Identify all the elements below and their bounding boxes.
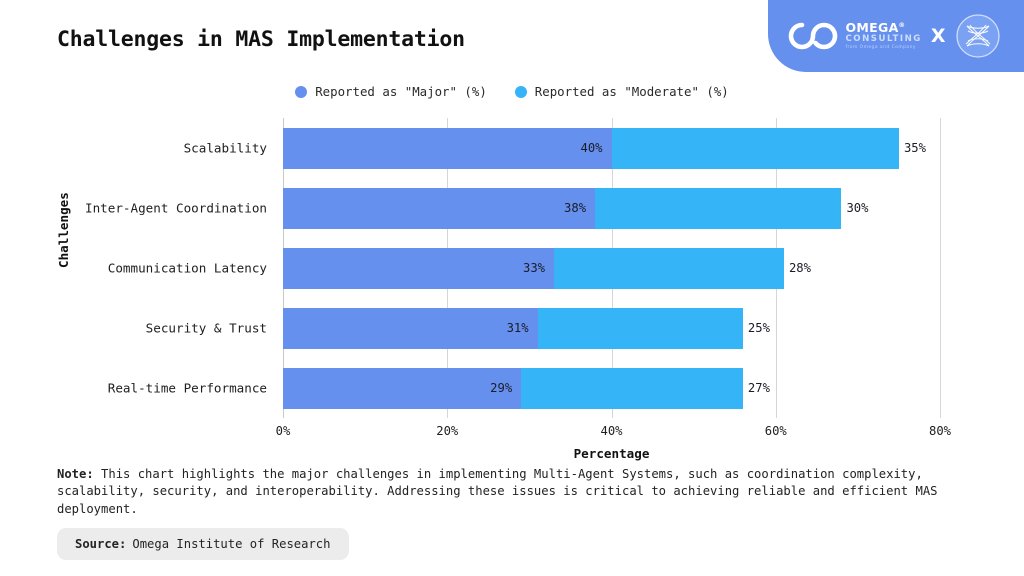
x-axis-title: Percentage <box>283 446 940 461</box>
bar-segment-moderate[interactable]: 35% <box>612 128 899 169</box>
bar-segment-major[interactable]: 38% <box>283 188 595 229</box>
x-axis-ticks: 0%20%40%60%80% <box>283 424 940 442</box>
brand-logo-badge: OMEGA® CONSULTING from Omega and Company… <box>768 0 1024 72</box>
bar-value-label: 30% <box>841 201 868 215</box>
y-axis-category-label: Scalability <box>184 141 267 156</box>
bar-value-label: 29% <box>490 381 521 395</box>
legend-swatch-major <box>295 86 307 98</box>
registered-mark-icon: ® <box>899 21 906 29</box>
note-label: Note: <box>57 467 94 481</box>
source-badge: Source:Omega Institute of Research <box>57 528 349 560</box>
bar-row[interactable]: Inter-Agent Coordination38%30% <box>283 188 841 229</box>
bar-value-label: 38% <box>564 201 595 215</box>
bar-value-label: 25% <box>743 321 770 335</box>
mesh-sphere-emblem-icon <box>955 13 1001 59</box>
bar-segment-moderate[interactable]: 28% <box>554 248 784 289</box>
omega-brand-sub: CONSULTING <box>846 35 922 44</box>
gridline-80% <box>940 118 941 418</box>
legend-label-major: Reported as "Major" (%) <box>315 84 487 99</box>
bar-row[interactable]: Communication Latency33%28% <box>283 248 784 289</box>
plot-area: Scalability40%35%Inter-Agent Coordinatio… <box>283 118 940 418</box>
bar-segment-major[interactable]: 33% <box>283 248 554 289</box>
y-axis-category-label: Communication Latency <box>108 261 267 276</box>
x-tick-label: 40% <box>600 424 622 438</box>
x-tick-label: 20% <box>436 424 458 438</box>
source-label: Source: <box>75 537 126 551</box>
bar-row[interactable]: Security & Trust31%25% <box>283 308 743 349</box>
bar-segment-moderate[interactable]: 27% <box>521 368 743 409</box>
y-axis-category-label: Real-time Performance <box>108 381 267 396</box>
bar-segment-moderate[interactable]: 30% <box>595 188 841 229</box>
bar-value-label: 33% <box>523 261 554 275</box>
x-tick-label: 80% <box>929 424 951 438</box>
source-text: Omega Institute of Research <box>132 537 330 551</box>
chart-legend: Reported as "Major" (%) Reported as "Mod… <box>0 84 1024 99</box>
bar-value-label: 40% <box>580 141 611 155</box>
page-title: Challenges in MAS Implementation <box>57 27 465 52</box>
logo-separator-x: X <box>931 25 946 47</box>
y-axis-category-label: Security & Trust <box>146 321 267 336</box>
bar-row[interactable]: Scalability40%35% <box>283 128 899 169</box>
omega-brand-tagline: from Omega and Company <box>846 46 922 50</box>
note-text: This chart highlights the major challeng… <box>57 467 938 516</box>
bar-value-label: 35% <box>899 141 926 155</box>
omega-wordmark: OMEGA® CONSULTING from Omega and Company <box>846 22 922 51</box>
legend-swatch-moderate <box>515 86 527 98</box>
omega-logo-mark: OMEGA® CONSULTING from Omega and Company <box>786 21 922 51</box>
bar-value-label: 31% <box>507 321 538 335</box>
omega-brand-name-text: OMEGA <box>846 20 899 35</box>
bar-segment-major[interactable]: 29% <box>283 368 521 409</box>
bar-segment-moderate[interactable]: 25% <box>538 308 743 349</box>
omega-infinity-icon <box>786 21 842 51</box>
omega-brand-name: OMEGA® <box>846 22 922 35</box>
bar-value-label: 28% <box>784 261 811 275</box>
legend-item-major[interactable]: Reported as "Major" (%) <box>295 84 487 99</box>
legend-label-moderate: Reported as "Moderate" (%) <box>535 84 729 99</box>
x-tick-label: 60% <box>765 424 787 438</box>
chart-note: Note: This chart highlights the major ch… <box>57 466 972 518</box>
bar-segment-major[interactable]: 31% <box>283 308 538 349</box>
bar-value-label: 27% <box>743 381 770 395</box>
bar-row[interactable]: Real-time Performance29%27% <box>283 368 743 409</box>
bar-segment-major[interactable]: 40% <box>283 128 612 169</box>
y-axis-title: Challenges <box>56 192 71 268</box>
x-tick-label: 0% <box>276 424 291 438</box>
legend-item-moderate[interactable]: Reported as "Moderate" (%) <box>515 84 729 99</box>
y-axis-category-label: Inter-Agent Coordination <box>85 201 267 216</box>
